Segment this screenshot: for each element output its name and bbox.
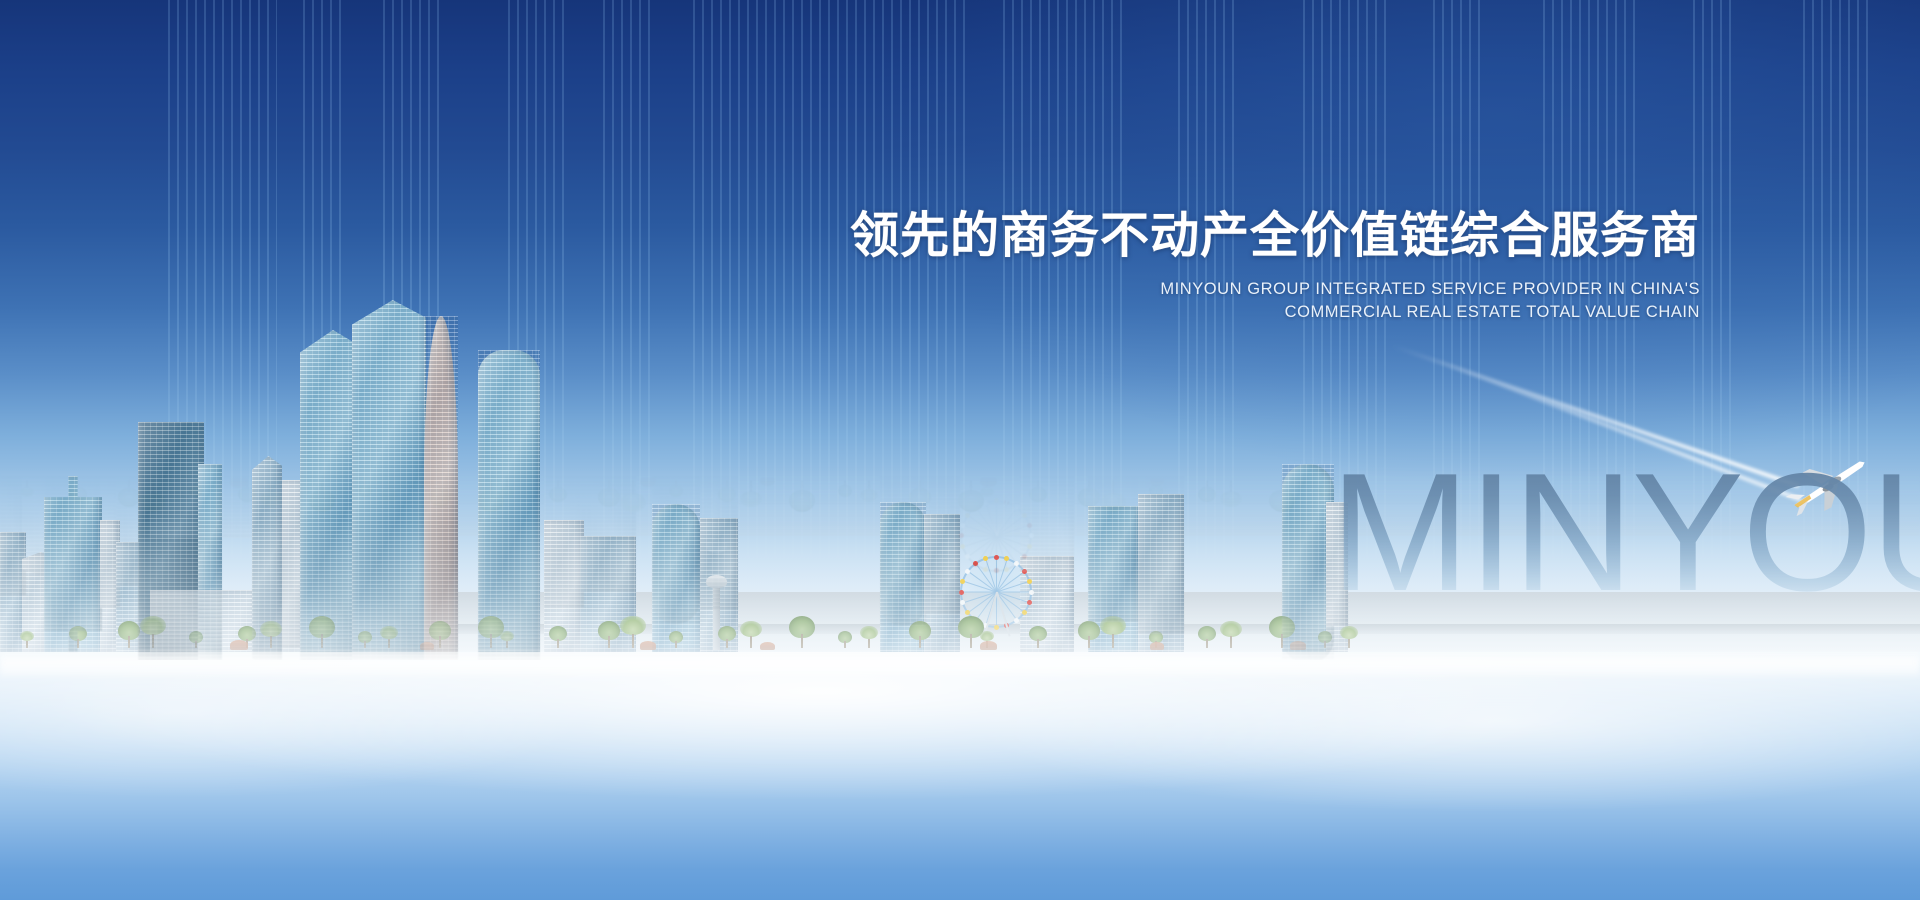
tree-canopy: [980, 631, 994, 642]
water-sheen: [0, 652, 1920, 900]
tree-canopy: [1220, 621, 1242, 638]
waterfront-tree: [1029, 626, 1047, 649]
ferris-spoke: [961, 592, 997, 593]
waterfront-pavilion: [1290, 641, 1306, 650]
waterfront-pavilion: [760, 642, 775, 650]
tree-trunk: [844, 641, 845, 648]
building-mullions: [1138, 494, 1184, 652]
ferris-cabin: [959, 590, 964, 595]
tree-trunk: [364, 641, 365, 648]
building-mullions: [478, 350, 540, 652]
ferris-cabin: [1022, 569, 1027, 574]
tree-canopy: [740, 621, 762, 638]
ferris-cabin: [983, 556, 988, 561]
tree-trunk: [557, 639, 559, 648]
waterfront-tree: [718, 626, 736, 649]
building-mullions: [424, 316, 458, 652]
city-skyline: [0, 0, 1920, 668]
tree-trunk: [1088, 636, 1090, 648]
tree-trunk: [1112, 634, 1115, 648]
waterfront-tree: [549, 626, 567, 649]
subtitle-line-2: COMMERCIAL REAL ESTATE TOTAL VALUE CHAIN: [800, 301, 1700, 324]
tree-trunk: [439, 636, 441, 648]
tree-trunk: [77, 639, 79, 648]
tree-trunk: [801, 634, 804, 648]
waterfront-tree: [838, 631, 852, 649]
tree-trunk: [868, 639, 870, 648]
tree-trunk: [270, 636, 272, 648]
tree-canopy: [620, 616, 646, 636]
waterfront-pavilion: [640, 641, 656, 650]
tree-trunk: [1324, 641, 1325, 648]
tree-trunk: [1230, 636, 1232, 648]
building-tower-blue-tall: [300, 330, 360, 652]
waterfront-tree: [140, 616, 166, 649]
tree-trunk: [506, 641, 507, 648]
tree-trunk: [675, 641, 676, 648]
tree-trunk: [195, 641, 196, 648]
building-mullions: [300, 330, 360, 652]
waterfront-tree: [1198, 626, 1216, 649]
airplane-group: [1745, 440, 1920, 560]
tree-trunk: [750, 636, 752, 648]
tree-trunk: [970, 634, 973, 648]
building-tower-wide-glass: [352, 300, 426, 652]
building-tower-spire-slim: [424, 316, 458, 652]
tree-trunk: [1037, 639, 1039, 648]
ferris-cabin: [994, 625, 999, 630]
waterfront-tree: [380, 626, 398, 649]
waterfront-tree: [20, 631, 34, 649]
tree-trunk: [1281, 634, 1284, 648]
tree-trunk: [490, 634, 493, 648]
tree-canopy: [500, 631, 514, 642]
tree-trunk: [726, 639, 728, 648]
building-mullions: [352, 300, 426, 652]
waterfront-tree: [740, 621, 762, 649]
waterfront-tree: [118, 621, 140, 649]
observation-tower-pod: [706, 575, 727, 588]
waterfront-tree: [1340, 626, 1358, 649]
airplane-icon: [1783, 454, 1875, 516]
tree-canopy: [1100, 616, 1126, 636]
waterfront-tree: [598, 621, 620, 649]
ferris-cabin: [1029, 590, 1034, 595]
waterfront-tree: [69, 626, 87, 649]
waterfront-tree: [669, 631, 683, 649]
waterfront-pavilion: [980, 641, 997, 650]
waterfront-tree: [309, 616, 335, 649]
ferris-cabin: [1022, 610, 1027, 615]
ferris-cabin: [960, 579, 965, 584]
ferris-cabin: [1014, 618, 1019, 623]
waterfront-tree: [1100, 616, 1126, 649]
waterfront-pavilion: [1150, 642, 1164, 650]
waterfront-tree: [358, 631, 372, 649]
tree-trunk: [632, 634, 635, 648]
building-tower-round-top: [478, 350, 540, 652]
ferris-cabin: [994, 555, 999, 560]
waterfront-pavilion: [420, 642, 434, 650]
tree-canopy: [20, 631, 34, 642]
waterfront-tree: [789, 616, 815, 649]
tree-trunk: [152, 634, 155, 648]
ferris-cabin: [1027, 579, 1032, 584]
waterfront-tree: [1078, 621, 1100, 649]
waterfront-tree: [909, 621, 931, 649]
tree-trunk: [1206, 639, 1208, 648]
tree-trunk: [919, 636, 921, 648]
tree-canopy: [140, 616, 166, 636]
banner-copy: 领先的商务不动产全价值链综合服务商 MINYOUN GROUP INTEGRAT…: [800, 210, 1700, 325]
subtitle-line-1: MINYOUN GROUP INTEGRATED SERVICE PROVIDE…: [800, 278, 1700, 301]
waterfront-tree: [189, 631, 203, 649]
banner-subtitle: MINYOUN GROUP INTEGRATED SERVICE PROVIDE…: [800, 278, 1700, 325]
tree-canopy: [860, 626, 878, 640]
ferris-cabin: [1027, 600, 1032, 605]
hero-banner: MINYOUN 领先的商务不动产全价值链综合服务商 MINYOUN GROUP …: [0, 0, 1920, 900]
waterline: [0, 650, 1920, 676]
tree-canopy: [260, 621, 282, 638]
waterfront-tree: [1220, 621, 1242, 649]
tree-trunk: [321, 634, 324, 648]
tree-canopy: [380, 626, 398, 640]
waterfront-tree: [1318, 631, 1332, 649]
tree-canopy: [1340, 626, 1358, 640]
tree-trunk: [608, 636, 610, 648]
tree-trunk: [388, 639, 390, 648]
waterfront-tree: [500, 631, 514, 649]
tree-trunk: [128, 636, 130, 648]
waterfront-pavilion: [230, 640, 248, 650]
page-title: 领先的商务不动产全价值链综合服务商: [800, 210, 1700, 263]
waterfront-tree: [860, 626, 878, 649]
waterfront-tree: [260, 621, 282, 649]
tree-trunk: [26, 641, 27, 648]
building-tower-right-b: [1138, 494, 1184, 652]
tree-trunk: [1348, 639, 1350, 648]
